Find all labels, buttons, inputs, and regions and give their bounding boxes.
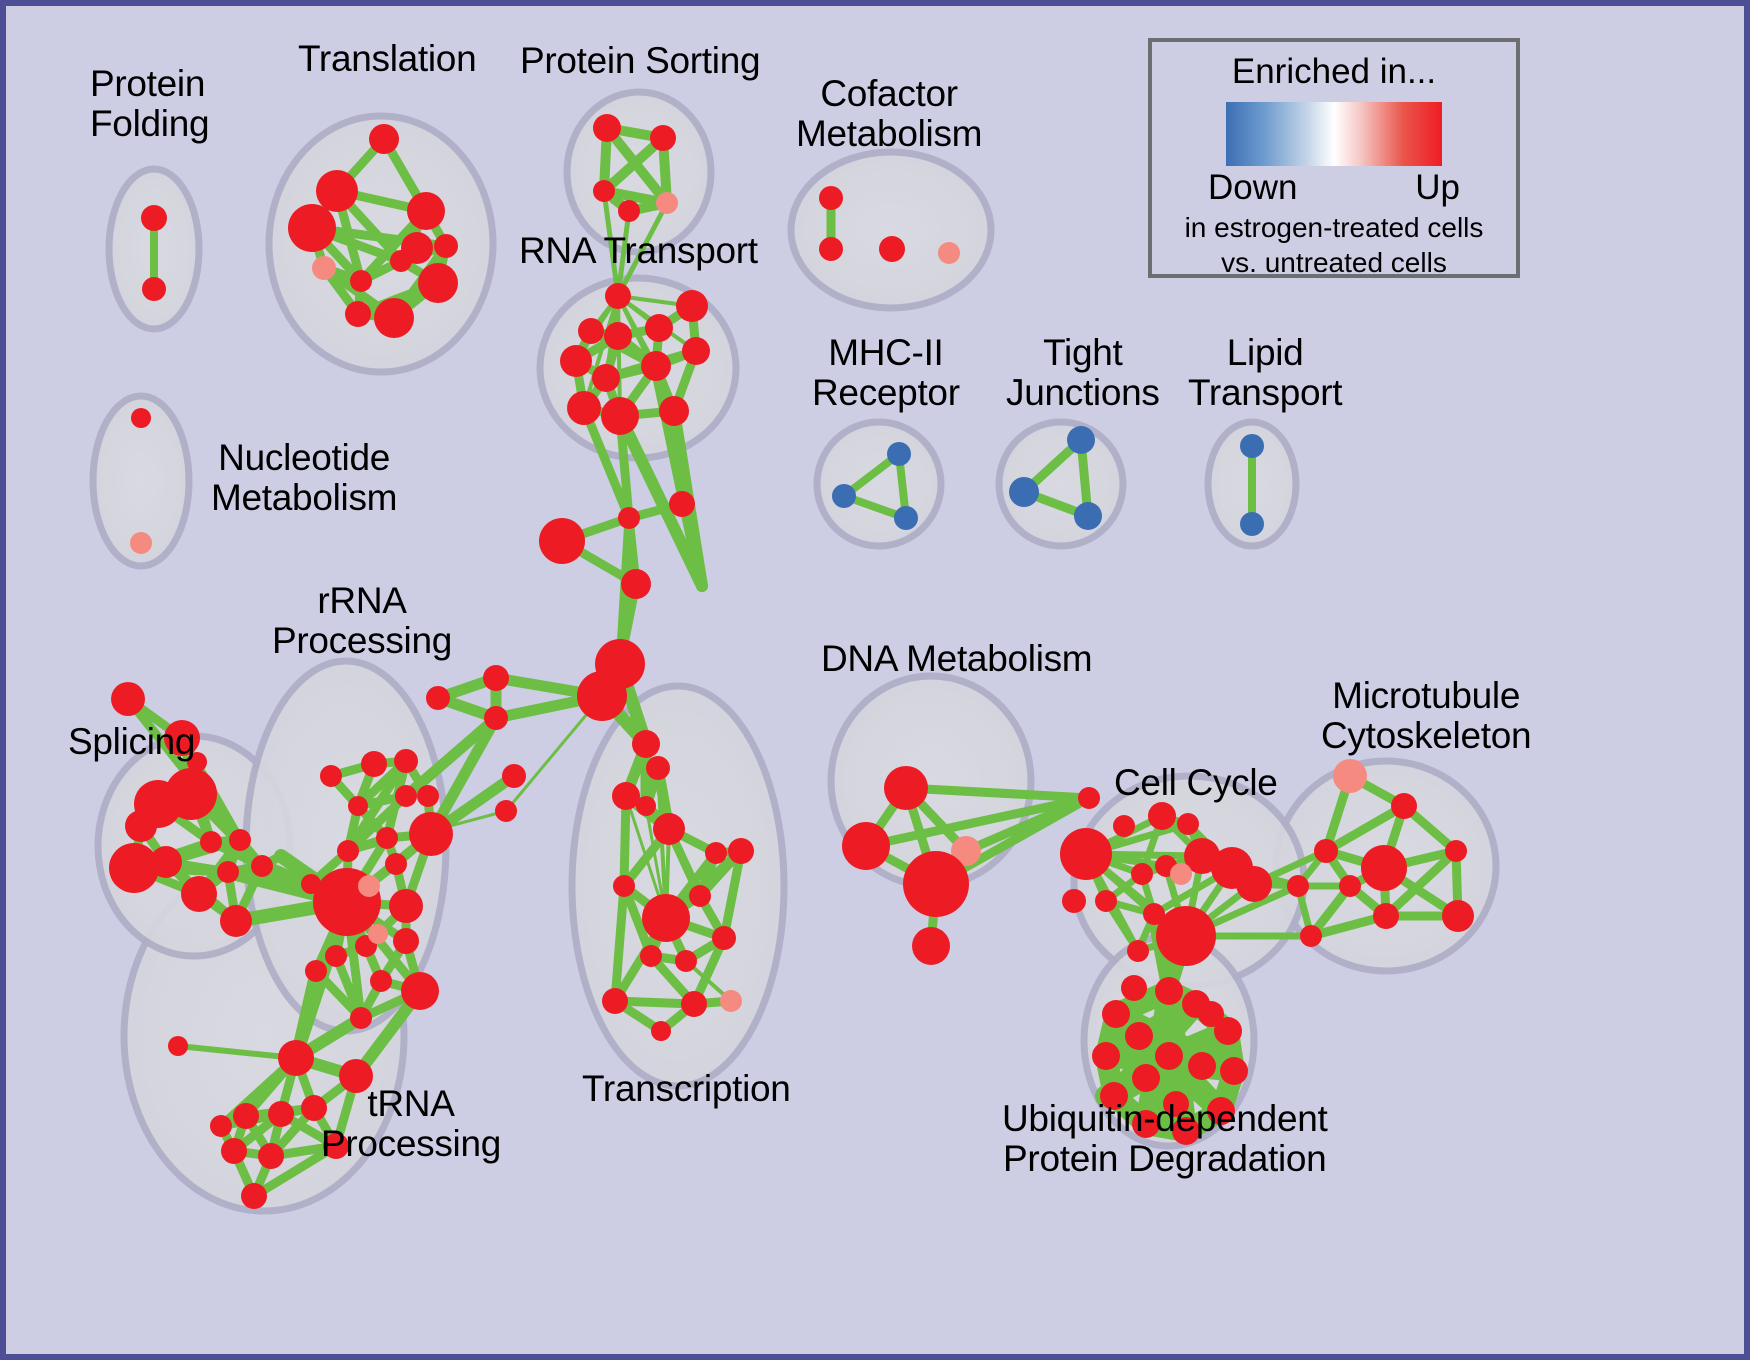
cluster-label-cell-cycle: Cell Cycle: [1114, 763, 1278, 803]
cluster-label-transcription: Transcription: [582, 1069, 791, 1109]
cluster-ellipse-transcription: [572, 686, 784, 1086]
cluster-label-protein-sorting: Protein Sorting: [520, 41, 760, 81]
legend-title: Enriched in...: [1152, 52, 1516, 92]
cluster-label-trna-processing: tRNA Processing: [321, 1084, 501, 1164]
cluster-label-microtubule-cytoskeleton: Microtubule Cytoskeleton: [1321, 676, 1531, 756]
cluster-label-rna-transport: RNA Transport: [519, 231, 758, 271]
cluster-label-tight-junctions: Tight Junctions: [1006, 333, 1160, 413]
cluster-label-splicing: Splicing: [68, 722, 195, 762]
cluster-label-rrna-processing: rRNA Processing: [272, 581, 452, 661]
cluster-label-translation: Translation: [298, 39, 476, 79]
cluster-ellipse-mhc-ii-receptor: [817, 422, 941, 546]
legend-subtitle-line1: in estrogen-treated cells: [1152, 212, 1516, 243]
cluster-label-ubiquitin-protein-degradation: Ubiquitin-dependent Protein Degradation: [1002, 1099, 1328, 1179]
cluster-label-mhc-ii-receptor: MHC-II Receptor: [812, 333, 960, 413]
cluster-label-cofactor-metabolism: Cofactor Metabolism: [796, 74, 982, 154]
cluster-label-dna-metabolism: DNA Metabolism: [821, 639, 1092, 679]
legend-panel: Enriched in... Down Up in estrogen-treat…: [1148, 38, 1520, 278]
legend-color-gradient-bar: [1226, 102, 1442, 166]
cluster-label-nucleotide-metabolism: Nucleotide Metabolism: [211, 438, 397, 518]
legend-low-label: Down: [1208, 168, 1297, 208]
legend-subtitle-line2: vs. untreated cells: [1152, 247, 1516, 278]
legend-high-label: Up: [1415, 168, 1460, 208]
enrichment-map-figure: .cl{fill:url(#clusterGrad);stroke:#aeaec…: [0, 0, 1750, 1360]
cluster-ellipse-cofactor-metabolism: [791, 152, 991, 308]
cluster-label-protein-folding: Protein Folding: [90, 64, 209, 144]
cluster-label-lipid-transport: Lipid Transport: [1188, 333, 1342, 413]
